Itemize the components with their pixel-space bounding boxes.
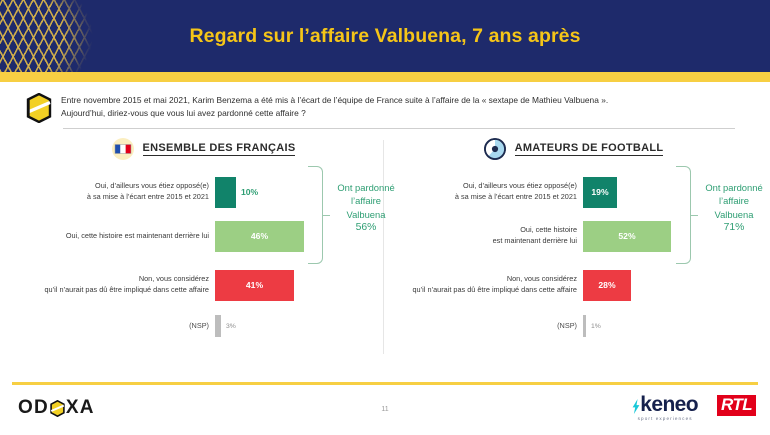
soccer-ball-icon	[483, 137, 507, 161]
bar-yes-opposed[interactable]: 19%	[583, 177, 617, 208]
bar-no-should-not-be-implicated[interactable]: 28%	[583, 270, 631, 301]
row-label: (NSP)	[392, 321, 583, 332]
row-label: (NSP)	[24, 321, 215, 332]
keneo-wordmark: keneo	[640, 393, 698, 416]
callout-value: 71%	[692, 221, 770, 236]
row-label-line-1: (NSP)	[392, 321, 577, 332]
chart-ensemble-des-francais: Oui, d’ailleurs vous étiez opposé(e) à s…	[24, 172, 382, 358]
bar-nsp[interactable]	[583, 315, 586, 337]
bar-value: 28%	[598, 280, 615, 290]
bar-yes-opposed[interactable]	[215, 177, 236, 208]
question-text: Entre novembre 2015 et mai 2021, Karim B…	[61, 92, 608, 120]
callout-ont-pardonne: Ont pardonné l’affaire Valbuena 71%	[692, 181, 770, 236]
bar-area: 3%	[215, 315, 236, 337]
chart-row: Non, vous considérez qu’il n’aurait pas …	[392, 265, 754, 305]
keneo-logo-text: keneo	[632, 394, 698, 415]
slide-header: Regard sur l’affaire Valbuena, 7 ans apr…	[0, 0, 770, 72]
bar-yes-behind-him[interactable]: 46%	[215, 221, 304, 252]
panel-header-left: ENSEMBLE DES FRANÇAIS	[24, 134, 382, 164]
panel-header-right: AMATEURS DE FOOTBALL	[392, 134, 754, 164]
row-label: Oui, cette histoire est maintenant derri…	[392, 225, 583, 246]
row-label-line-1: Non, vous considérez	[24, 274, 209, 285]
bar-value: 10%	[241, 187, 258, 197]
bar-area: 19%	[583, 172, 617, 212]
bar-area: 1%	[583, 315, 601, 337]
question-divider	[63, 128, 735, 129]
bar-value: 3%	[226, 323, 236, 330]
bar-yes-behind-him[interactable]: 52%	[583, 221, 671, 252]
bar-value: 46%	[251, 231, 268, 241]
rtl-logo: RTL	[717, 395, 756, 416]
row-label-line-2: à sa mise à l’écart entre 2015 et 2021	[24, 192, 209, 203]
row-label: Oui, d’ailleurs vous étiez opposé(e) à s…	[24, 181, 215, 202]
row-label-line-1: Oui, cette histoire est maintenant derri…	[24, 231, 209, 242]
panel-title-left: ENSEMBLE DES FRANÇAIS	[143, 142, 296, 156]
chart-row: (NSP) 1%	[392, 315, 754, 337]
row-label-line-2: qu’il n’aurait pas dû être impliqué dans…	[392, 285, 577, 296]
keneo-logo: keneo sport experiences	[632, 394, 698, 421]
lightning-bolt-icon	[632, 397, 640, 412]
panel-amateurs-de-football: AMATEURS DE FOOTBALL Oui, d’ailleurs vou…	[392, 134, 754, 359]
row-label-line-1: Non, vous considérez	[392, 274, 577, 285]
row-label: Non, vous considérez qu’il n’aurait pas …	[392, 274, 583, 295]
callout-line-2: l’affaire	[692, 194, 770, 207]
bar-nsp[interactable]	[215, 315, 221, 337]
row-label: Oui, d’ailleurs vous étiez opposé(e) à s…	[392, 181, 583, 202]
callout-line-3: Valbuena	[692, 208, 770, 221]
question-line-1: Entre novembre 2015 et mai 2021, Karim B…	[61, 95, 608, 105]
page-title: Regard sur l’affaire Valbuena, 7 ans apr…	[0, 0, 770, 72]
bar-value: 41%	[246, 280, 263, 290]
row-label-line-1: Oui, d’ailleurs vous étiez opposé(e)	[392, 181, 577, 192]
bar-area: 41%	[215, 265, 294, 305]
bar-area: 28%	[583, 265, 631, 305]
row-label-line-1: (NSP)	[24, 321, 209, 332]
bar-no-should-not-be-implicated[interactable]: 41%	[215, 270, 294, 301]
slide-footer: OD XA 11 keneo sport experiences RTL	[0, 385, 770, 435]
odoxa-bullet-icon	[26, 93, 52, 123]
question-line-2: Aujourd’hui, diriez-vous que vous lui av…	[61, 107, 608, 120]
chart-row: (NSP) 3%	[24, 315, 382, 337]
bar-value: 1%	[591, 323, 601, 330]
chart-row: Non, vous considérez qu’il n’aurait pas …	[24, 265, 382, 305]
panel-divider	[383, 140, 384, 354]
bar-value: 19%	[591, 187, 608, 197]
row-label-line-2: qu’il n’aurait pas dû être impliqué dans…	[24, 285, 209, 296]
row-label-line-2: est maintenant derrière lui	[392, 236, 577, 247]
bar-area: 10%	[215, 172, 258, 212]
chart-amateurs-de-football: Oui, d’ailleurs vous étiez opposé(e) à s…	[392, 172, 754, 358]
row-label-line-2: à sa mise à l’écart entre 2015 et 2021	[392, 192, 577, 203]
row-label-line-1: Oui, d’ailleurs vous étiez opposé(e)	[24, 181, 209, 192]
row-label: Non, vous considérez qu’il n’aurait pas …	[24, 274, 215, 295]
keneo-tagline: sport experiences	[632, 416, 698, 421]
bar-area: 46%	[215, 216, 304, 256]
row-label-line-1: Oui, cette histoire	[392, 225, 577, 236]
callout-brace	[676, 166, 691, 264]
results-area: ENSEMBLE DES FRANÇAIS Oui, d’ailleurs vo…	[0, 134, 770, 359]
french-flag-icon	[111, 137, 135, 161]
row-label: Oui, cette histoire est maintenant derri…	[24, 231, 215, 242]
bar-value: 52%	[618, 231, 635, 241]
header-yellow-band	[0, 72, 770, 82]
panel-ensemble-des-francais: ENSEMBLE DES FRANÇAIS Oui, d’ailleurs vo…	[24, 134, 382, 359]
bar-area: 52%	[583, 216, 671, 256]
question-block: Entre novembre 2015 et mai 2021, Karim B…	[26, 92, 742, 123]
callout-brace	[308, 166, 323, 264]
panel-title-right: AMATEURS DE FOOTBALL	[515, 142, 664, 156]
callout-line-1: Ont pardonné	[692, 181, 770, 194]
